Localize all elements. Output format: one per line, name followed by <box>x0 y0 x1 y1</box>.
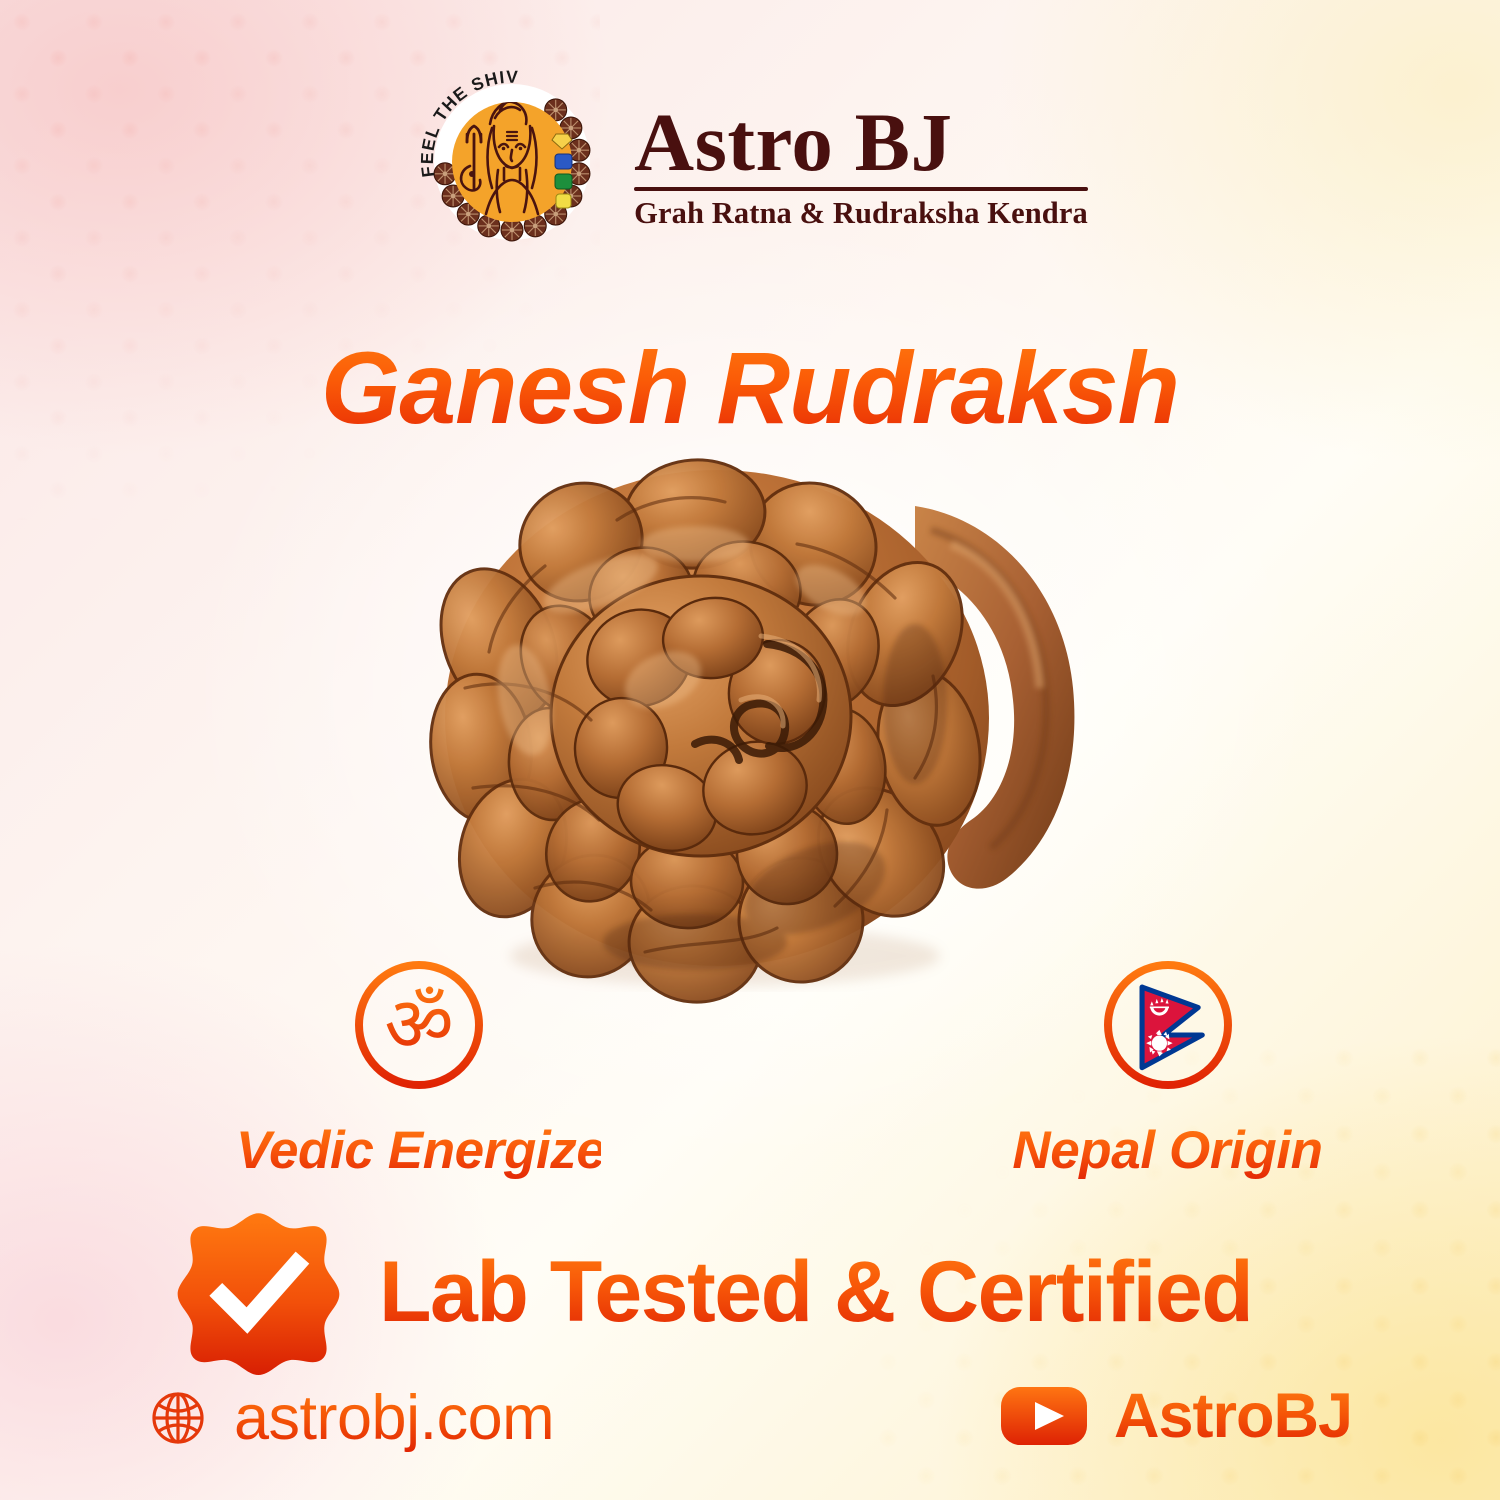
globe-icon <box>148 1388 208 1448</box>
svg-text:ॐ: ॐ <box>384 983 453 1068</box>
verified-check-badge-icon <box>176 1210 341 1375</box>
nepal-flag-icon <box>1098 955 1238 1095</box>
brand-divider <box>634 187 1088 191</box>
feature-vedic-energized: ॐ Vedic Energized <box>236 955 601 1181</box>
feature-label-nepal: Nepal Origin <box>950 1120 1385 1181</box>
footer-website[interactable]: astrobj.com <box>148 1382 554 1454</box>
headline-text: Ganesh Rudraksh <box>321 330 1179 447</box>
lab-tested-label: Lab Tested & Certified <box>379 1243 1252 1342</box>
youtube-label: AstroBJ <box>1114 1380 1352 1452</box>
om-icon: ॐ <box>349 955 489 1095</box>
page-title: Ganesh Rudraksh <box>0 330 1500 447</box>
product-image-ganesh-rudraksha <box>395 448 1115 1008</box>
brand-wordmark: Astro BJ Grah Ratna & Rudraksha Kendra <box>634 103 1088 232</box>
youtube-play-icon <box>1000 1385 1088 1447</box>
website-label: astrobj.com <box>234 1382 554 1454</box>
brand-header: FEEL THE SHIV Astro BJ Grah Ratna & Rudr… <box>0 62 1500 262</box>
shiva-mandala-logo: FEEL THE SHIV <box>412 62 612 262</box>
footer-youtube[interactable]: AstroBJ <box>1000 1380 1352 1452</box>
brand-name: Astro BJ <box>634 103 952 182</box>
feature-nepal-origin: Nepal Origin <box>950 955 1385 1181</box>
feature-label-vedic: Vedic Energized <box>236 1120 601 1181</box>
brand-tagline: Grah Ratna & Rudraksha Kendra <box>634 196 1088 231</box>
promo-poster: FEEL THE SHIV Astro BJ Grah Ratna & Rudr… <box>0 0 1500 1500</box>
lab-tested-row: Lab Tested & Certified <box>176 1210 1252 1375</box>
